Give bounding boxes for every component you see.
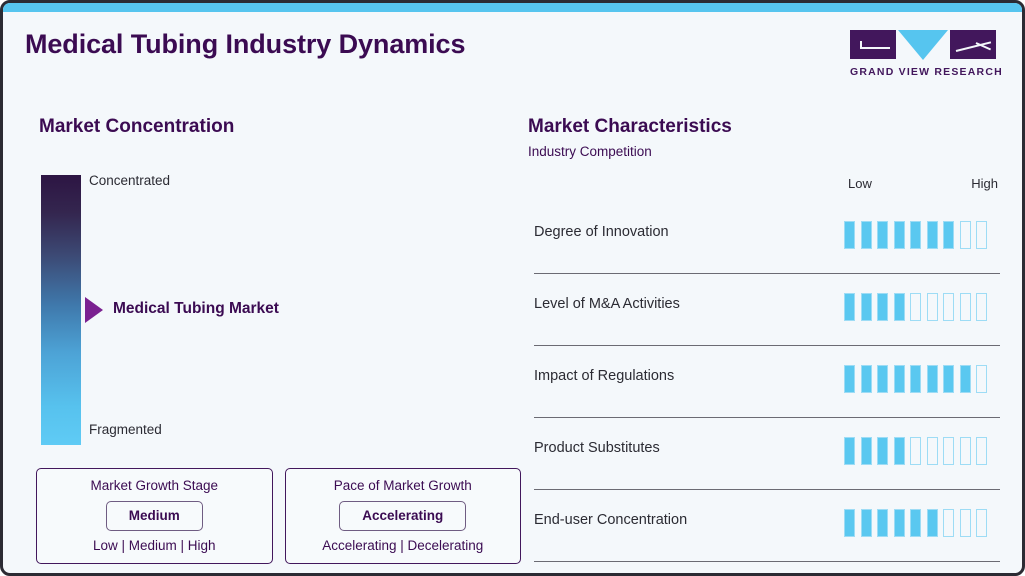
characteristic-row: Product Substitutes [528, 418, 1000, 490]
rating-segment-filled [861, 509, 872, 537]
characteristic-rating-bars [844, 509, 987, 537]
rating-segment-filled [877, 437, 888, 465]
rating-segment-filled [927, 365, 938, 393]
characteristic-rating-bars [844, 437, 987, 465]
pace-of-market-growth-box: Pace of Market Growth Accelerating Accel… [285, 468, 522, 564]
scale-high-label: High [971, 176, 998, 191]
rating-segment-empty [960, 437, 971, 465]
stage-box-value: Medium [129, 508, 180, 523]
characteristic-label: End-user Concentration [534, 512, 687, 528]
rating-segment-filled [894, 437, 905, 465]
rating-segment-filled [844, 221, 855, 249]
page-title: Medical Tubing Industry Dynamics [25, 29, 465, 60]
rating-segment-filled [943, 365, 954, 393]
rating-segment-filled [861, 221, 872, 249]
characteristic-rating-bars [844, 221, 987, 249]
rating-segment-empty [943, 293, 954, 321]
stage-box-title: Market Growth Stage [47, 478, 262, 493]
characteristic-label: Product Substitutes [534, 440, 660, 456]
rating-segment-empty [976, 221, 987, 249]
market-characteristics-heading: Market Characteristics [528, 116, 732, 138]
top-accent-bar [3, 3, 1022, 12]
rating-segment-filled [910, 365, 921, 393]
stage-box-value-chip: Medium [106, 501, 203, 531]
rating-segment-filled [877, 365, 888, 393]
rating-segment-filled [927, 221, 938, 249]
rating-segment-filled [910, 509, 921, 537]
rating-segment-filled [861, 365, 872, 393]
market-characteristics-panel: Market Characteristics Industry Competit… [528, 98, 1008, 568]
logo-block-right-icon [950, 30, 996, 59]
rating-segment-filled [894, 509, 905, 537]
rating-segment-filled [844, 437, 855, 465]
logo-wordmark: GRAND VIEW RESEARCH [850, 66, 996, 78]
stage-box-value: Accelerating [362, 508, 443, 523]
rating-segment-empty [960, 509, 971, 537]
marker-label: Medical Tubing Market [113, 300, 279, 318]
rating-segment-empty [927, 293, 938, 321]
logo-marks [850, 30, 996, 60]
characteristics-rows: Degree of InnovationLevel of M&A Activit… [528, 202, 1000, 562]
row-divider [534, 561, 1000, 563]
rating-segment-filled [894, 293, 905, 321]
concentration-top-label: Concentrated [89, 173, 170, 188]
market-characteristics-subheading: Industry Competition [528, 144, 652, 159]
logo-block-left-icon [850, 30, 896, 59]
rating-segment-empty [976, 437, 987, 465]
rating-segment-filled [943, 221, 954, 249]
concentration-gradient-scale [41, 175, 81, 445]
characteristic-label: Degree of Innovation [534, 224, 669, 240]
rating-segment-filled [927, 509, 938, 537]
rating-segment-empty [910, 437, 921, 465]
marker-arrow-icon [85, 297, 103, 323]
rating-segment-filled [960, 365, 971, 393]
infographic-poster: Medical Tubing Industry Dynamics GRAND V… [0, 0, 1025, 576]
rating-scale-labels: Low High [848, 176, 998, 191]
rating-segment-empty [943, 509, 954, 537]
characteristic-row: End-user Concentration [528, 490, 1000, 562]
rating-segment-empty [927, 437, 938, 465]
rating-segment-filled [861, 293, 872, 321]
stage-box-options: Low | Medium | High [47, 538, 262, 553]
market-concentration-heading: Market Concentration [39, 116, 234, 138]
concentration-bottom-label: Fragmented [89, 422, 162, 437]
characteristic-rating-bars [844, 293, 987, 321]
market-growth-stage-box: Market Growth Stage Medium Low | Medium … [36, 468, 273, 564]
characteristic-label: Impact of Regulations [534, 368, 674, 384]
rating-segment-filled [877, 509, 888, 537]
rating-segment-empty [960, 293, 971, 321]
market-concentration-panel: Market Concentration Concentrated Fragme… [3, 98, 523, 568]
scale-low-label: Low [848, 176, 872, 191]
company-logo: GRAND VIEW RESEARCH [850, 30, 996, 78]
rating-segment-empty [976, 509, 987, 537]
rating-segment-filled [861, 437, 872, 465]
characteristic-row: Degree of Innovation [528, 202, 1000, 274]
rating-segment-filled [894, 365, 905, 393]
rating-segment-filled [844, 509, 855, 537]
stage-box-options: Accelerating | Decelerating [296, 538, 511, 553]
logo-triangle-icon [898, 30, 948, 60]
rating-segment-filled [844, 365, 855, 393]
rating-segment-empty [960, 221, 971, 249]
stage-boxes: Market Growth Stage Medium Low | Medium … [36, 468, 521, 564]
rating-segment-filled [910, 221, 921, 249]
rating-segment-filled [894, 221, 905, 249]
rating-segment-empty [976, 365, 987, 393]
characteristic-row: Level of M&A Activities [528, 274, 1000, 346]
characteristic-rating-bars [844, 365, 987, 393]
stage-box-value-chip: Accelerating [339, 501, 466, 531]
stage-box-title: Pace of Market Growth [296, 478, 511, 493]
rating-segment-filled [877, 221, 888, 249]
rating-segment-empty [976, 293, 987, 321]
characteristic-row: Impact of Regulations [528, 346, 1000, 418]
rating-segment-empty [910, 293, 921, 321]
rating-segment-empty [943, 437, 954, 465]
characteristic-label: Level of M&A Activities [534, 296, 680, 312]
rating-segment-filled [877, 293, 888, 321]
rating-segment-filled [844, 293, 855, 321]
